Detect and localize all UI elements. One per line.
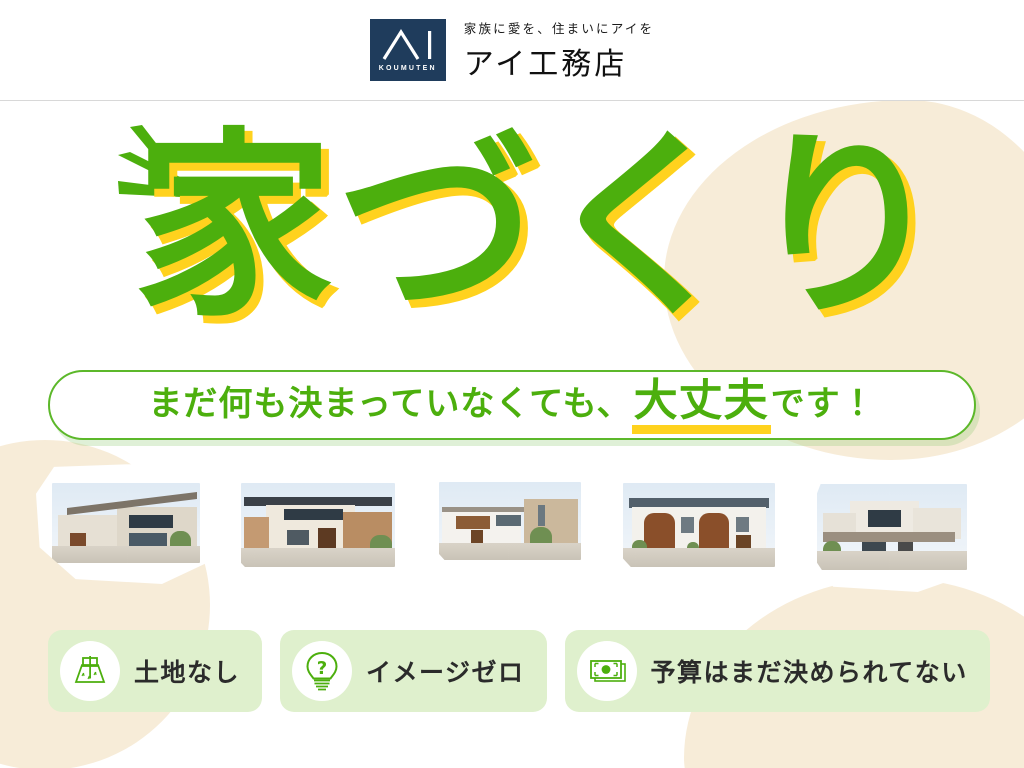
site-header: KOUMUTEN 家族に愛を、住まいにアイを アイ工務店 (0, 0, 1024, 101)
house-photo-3[interactable] (424, 462, 596, 580)
subhead-after: です！ (771, 376, 876, 425)
feature-badge-label: イメージゼロ (366, 653, 525, 689)
brand-company-name: アイ工務店 (464, 39, 654, 83)
hero-headline-text: 家づくり (74, 128, 950, 328)
feature-badge-image[interactable]: ? イメージゼロ (280, 630, 547, 712)
house-photo-1[interactable] (36, 462, 216, 584)
feature-badge-land[interactable]: 土地なし (48, 630, 262, 712)
house-photo-strip (0, 462, 1024, 607)
logo-subtext: KOUMUTEN (379, 65, 437, 72)
house-photo-5[interactable] (800, 462, 984, 592)
lightbulb-question-icon: ? (292, 641, 352, 701)
land-plot-sign-icon (60, 641, 120, 701)
subhead-emphasis: 大丈夫 (632, 378, 771, 433)
feature-badge-list: 土地なし ? イメージゼロ (48, 630, 990, 712)
page-root: KOUMUTEN 家族に愛を、住まいにアイを アイ工務店 家づくり まだ何も決ま… (0, 0, 1024, 768)
subhead-text: まだ何も決まっていなくても、 大丈夫 です！ (148, 376, 875, 433)
feature-badge-budget[interactable]: 予算はまだ決められてない (565, 630, 990, 712)
subhead-before: まだ何も決まっていなくても、 (148, 376, 631, 425)
house-photo-4[interactable] (606, 462, 792, 588)
ai-koumuten-logo-icon: KOUMUTEN (370, 19, 446, 81)
banknote-icon (577, 641, 637, 701)
brand-logo[interactable]: KOUMUTEN 家族に愛を、住まいにアイを アイ工務店 (370, 18, 654, 83)
feature-badge-label: 土地なし (134, 653, 240, 689)
feature-badge-label: 予算はまだ決められてない (651, 653, 968, 689)
svg-text:?: ? (317, 658, 327, 679)
subhead-pill: まだ何も決まっていなくても、 大丈夫 です！ (48, 370, 976, 440)
hero-headline: 家づくり (0, 103, 1024, 353)
hero-headline-area: 家づくり (0, 103, 1024, 353)
brand-text-block: 家族に愛を、住まいにアイを アイ工務店 (464, 18, 654, 83)
brand-tagline: 家族に愛を、住まいにアイを (464, 18, 654, 37)
house-photo-2[interactable] (224, 462, 412, 588)
